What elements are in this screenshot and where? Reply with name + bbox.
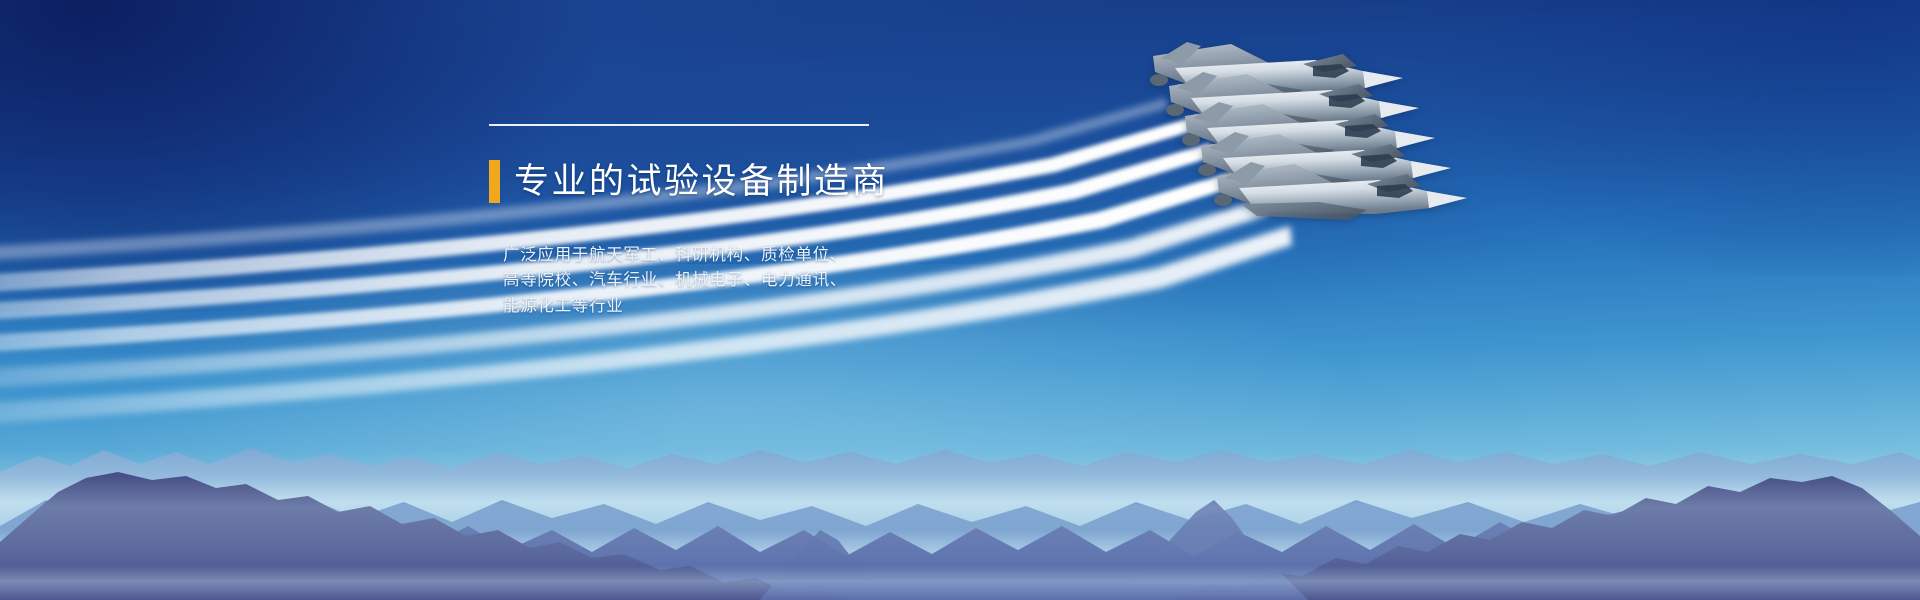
headline-top-rule <box>489 124 869 126</box>
subtitle-line-1: 广泛应用于航天军工、科研机构、质检单位、 <box>503 243 909 269</box>
accent-bar-icon <box>489 160 500 203</box>
hero-subtitle: 广泛应用于航天军工、科研机构、质检单位、 高等院校、汽车行业、机械电子、电力通讯… <box>503 243 909 320</box>
hero-banner: 专业的试验设备制造商 广泛应用于航天军工、科研机构、质检单位、 高等院校、汽车行… <box>0 0 1920 600</box>
headline-row: 专业的试验设备制造商 <box>389 137 909 227</box>
subtitle-line-3: 能源化工等行业 <box>503 294 909 320</box>
subtitle-line-2: 高等院校、汽车行业、机械电子、电力通讯、 <box>503 268 909 294</box>
page-title: 专业的试验设备制造商 <box>514 160 889 203</box>
mountain-range-silhouette <box>0 360 1920 600</box>
fighter-jet-formation <box>1135 38 1505 253</box>
hero-copy-block: 专业的试验设备制造商 广泛应用于航天军工、科研机构、质检单位、 高等院校、汽车行… <box>389 124 909 319</box>
